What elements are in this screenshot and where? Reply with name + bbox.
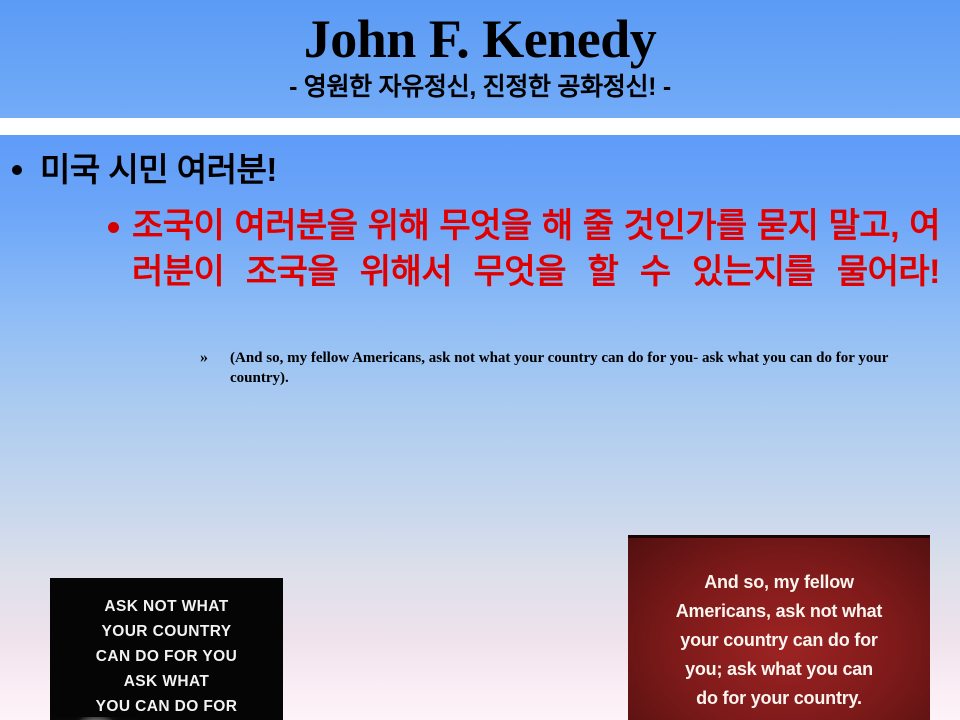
bullet-level2: 조국이 여러분을 위해 무엇을 해 줄 것인가를 묻지 말고, 여러분이 조국을… xyxy=(0,191,960,341)
round-bullet-icon xyxy=(12,165,22,175)
guillemet-icon: » xyxy=(200,348,208,368)
page-subtitle: - 영원한 자유정신, 진정한 공화정신! - xyxy=(0,70,960,102)
bullet-level1-label: 미국 시민 여러분! xyxy=(40,151,277,188)
image-jfk-quote-bw: ASK NOT WHAT YOUR COUNTRY CAN DO FOR YOU… xyxy=(50,578,283,720)
bullet-level1: 미국 시민 여러분! xyxy=(0,135,960,191)
bullet-list: 미국 시민 여러분! 조국이 여러분을 위해 무엇을 해 줄 것인가를 묻지 말… xyxy=(0,135,960,388)
red-quote-text: And so, my fellow Americans, ask not wha… xyxy=(638,568,920,713)
image-jfk-quote-red: And so, my fellow Americans, ask not wha… xyxy=(628,535,930,720)
header-divider xyxy=(0,118,960,135)
bullet-level3-label: (And so, my fellow Americans, ask not wh… xyxy=(230,348,930,388)
bullet-level3: » (And so, my fellow Americans, ask not … xyxy=(0,341,960,388)
round-bullet-red-icon xyxy=(108,222,119,233)
bw-quote-text: ASK NOT WHAT YOUR COUNTRY CAN DO FOR YOU… xyxy=(50,594,283,720)
slide-canvas: John F. Kenedy - 영원한 자유정신, 진정한 공화정신! - 미… xyxy=(0,0,960,720)
bullet-level2-label: 조국이 여러분을 위해 무엇을 해 줄 것인가를 묻지 말고, 여러분이 조국을… xyxy=(132,203,940,341)
page-title: John F. Kenedy xyxy=(0,0,960,70)
slide-header: John F. Kenedy - 영원한 자유정신, 진정한 공화정신! - xyxy=(0,0,960,118)
content-panel: 미국 시민 여러분! 조국이 여러분을 위해 무엇을 해 줄 것인가를 묻지 말… xyxy=(0,135,960,720)
